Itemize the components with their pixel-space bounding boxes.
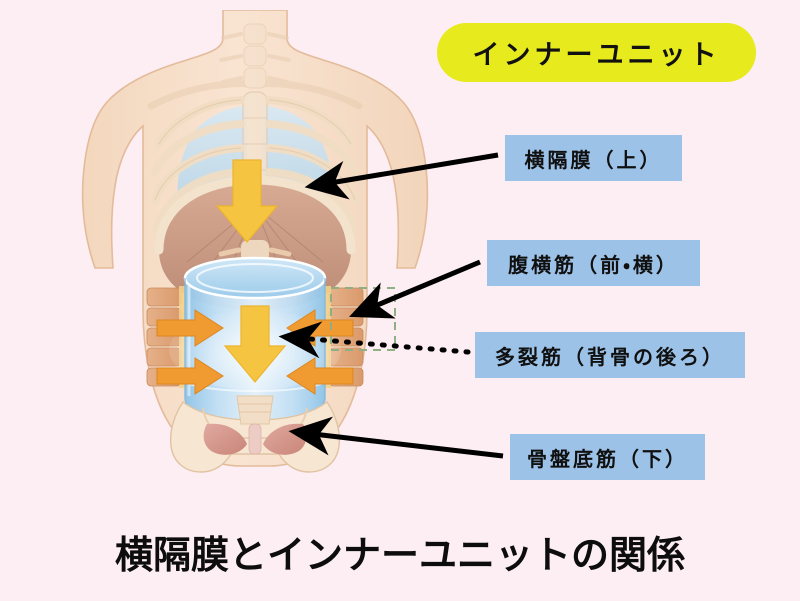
label-pelvic-floor-text: 骨盤底筋（下） bbox=[527, 443, 688, 472]
connector-multifidus bbox=[286, 337, 468, 352]
figure-caption: 横隔膜とインナーユニットの関係 bbox=[0, 524, 800, 579]
label-diaphragm: 横隔膜（上） bbox=[505, 135, 682, 181]
title-badge-label: インナーユニット bbox=[473, 33, 721, 72]
connector-diaphragm bbox=[312, 155, 498, 186]
slide-canvas: インナーユニット 横隔膜（上） 腹横筋（前・横） 多裂筋（背骨の後ろ） 骨盤底筋… bbox=[0, 0, 800, 601]
label-multifidus-text: 多裂筋（背骨の後ろ） bbox=[495, 341, 725, 370]
label-diaphragm-text: 横隔膜（上） bbox=[525, 144, 663, 173]
label-transversus-abdominis-text: 腹横筋（前・横） bbox=[508, 249, 679, 278]
callout-connectors bbox=[0, 0, 800, 601]
label-pelvic-floor: 骨盤底筋（下） bbox=[510, 434, 705, 480]
connector-tva bbox=[356, 262, 480, 314]
inner-unit-title-badge: インナーユニット bbox=[437, 23, 756, 82]
connector-pelvic bbox=[296, 432, 503, 456]
label-transversus-abdominis: 腹横筋（前・横） bbox=[487, 240, 700, 286]
label-multifidus: 多裂筋（背骨の後ろ） bbox=[475, 332, 745, 378]
figure-caption-text: 横隔膜とインナーユニットの関係 bbox=[115, 535, 685, 577]
